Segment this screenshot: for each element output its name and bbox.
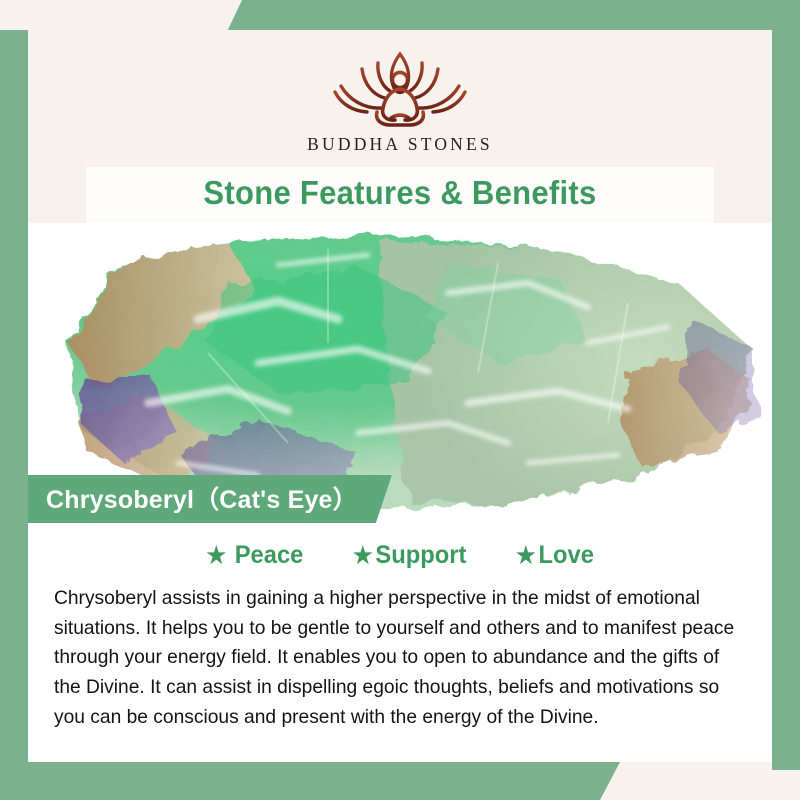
benefits-list: ★ Peace ★ Support ★ Love [28, 523, 772, 576]
star-icon: ★ [516, 542, 536, 569]
benefit-love: ★ Love [516, 541, 594, 570]
star-icon: ★ [353, 542, 373, 569]
stone-photo: Chrysoberyl（Cat's Eye） [28, 223, 772, 523]
lotus-meditation-icon [315, 40, 485, 132]
description-text: Chrysoberyl assists in gaining a higher … [54, 584, 738, 732]
title-banner: Stone Features & Benefits [86, 167, 714, 223]
header: BUDDHA STONES Stone Features & Benefits [28, 30, 772, 223]
benefit-label: Peace [235, 541, 304, 570]
benefit-label: Support [376, 541, 467, 570]
stone-name-label: Chrysoberyl（Cat's Eye） [28, 475, 392, 523]
frame-bar-right [772, 0, 800, 770]
info-card: BUDDHA STONES Stone Features & Benefits [28, 30, 772, 762]
frame-bar-bottom [0, 762, 620, 800]
frame-bar-left [0, 30, 28, 800]
description-section: Chrysoberyl assists in gaining a higher … [28, 576, 772, 762]
benefit-peace: ★ Peace [207, 541, 304, 570]
brand-logo: BUDDHA STONES [28, 40, 772, 161]
page-title: Stone Features & Benefits [105, 174, 695, 212]
benefit-support: ★ Support [353, 541, 466, 570]
brand-name: BUDDHA STONES [307, 134, 493, 155]
star-icon: ★ [207, 542, 227, 569]
benefit-label: Love [538, 541, 593, 570]
